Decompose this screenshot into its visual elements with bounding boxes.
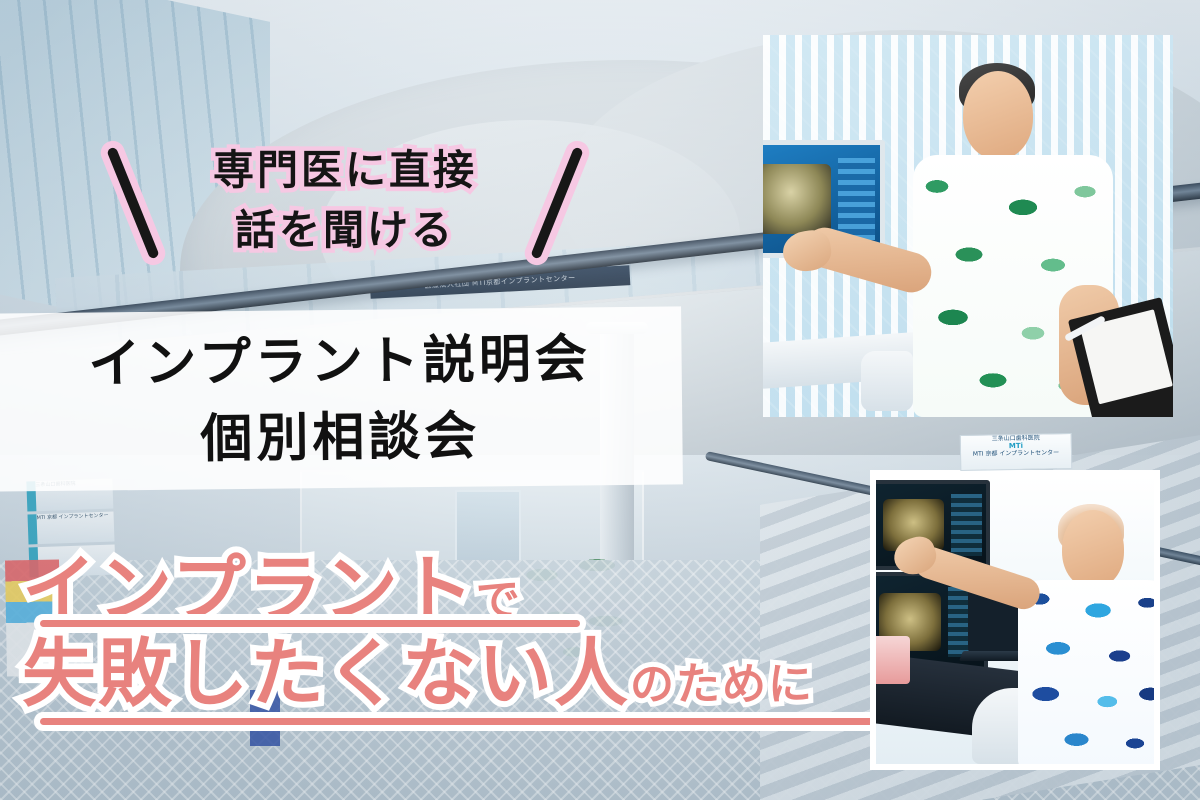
- doctor-blue-shirt: [1018, 580, 1154, 764]
- catch-copy: 専門医に直接 話を聞ける: [120, 140, 570, 270]
- catch-copy-line2: 話を聞ける: [174, 200, 516, 260]
- headline-line2-small: のために: [630, 659, 814, 710]
- banner-root: 医療法人社団 MTI京都インプラントセンター 三条山口歯科医院 MTI 京都 イ…: [0, 0, 1200, 800]
- main-title: インプラント説明会 個別相談会: [0, 312, 681, 487]
- xray-image: [763, 164, 831, 233]
- main-title-line2: 個別相談会: [200, 399, 481, 478]
- xray-tool-panel: [838, 158, 874, 240]
- clinic-wall-plaque: 三条山口歯科医院 MTi MTI 京都 インプラントセンター: [960, 433, 1073, 471]
- headline: インプラントで 失敗したくない人のために: [22, 548, 842, 716]
- headline-line2-big: 失敗したくない人: [22, 631, 630, 717]
- headline-line1-small: で: [476, 575, 522, 626]
- photo-doctor-blue-content: [876, 476, 1154, 764]
- doctor-blue-head: [1062, 510, 1124, 588]
- dental-handpiece: [861, 351, 913, 411]
- photo-doctor-green-content: [763, 35, 1173, 417]
- photo-doctor-green-shirt: [763, 35, 1173, 417]
- ct-panel-upper: [951, 494, 982, 556]
- clinic-wall-plaque-line2: MTI 京都 インプラントセンター: [961, 449, 1071, 458]
- catch-copy-line1: 専門医に直接: [174, 140, 516, 200]
- photo-doctor-blue-shirt: [870, 470, 1160, 770]
- main-title-line1: インプラント説明会: [88, 321, 591, 402]
- headline-underline-1: [40, 620, 580, 627]
- doctor-green-head: [963, 71, 1033, 159]
- headline-row-2: 失敗したくない人のために: [22, 632, 842, 716]
- dental-model: [876, 636, 910, 684]
- bg-wall-sign-2: MTI 京都 インプラントセンター: [28, 512, 115, 545]
